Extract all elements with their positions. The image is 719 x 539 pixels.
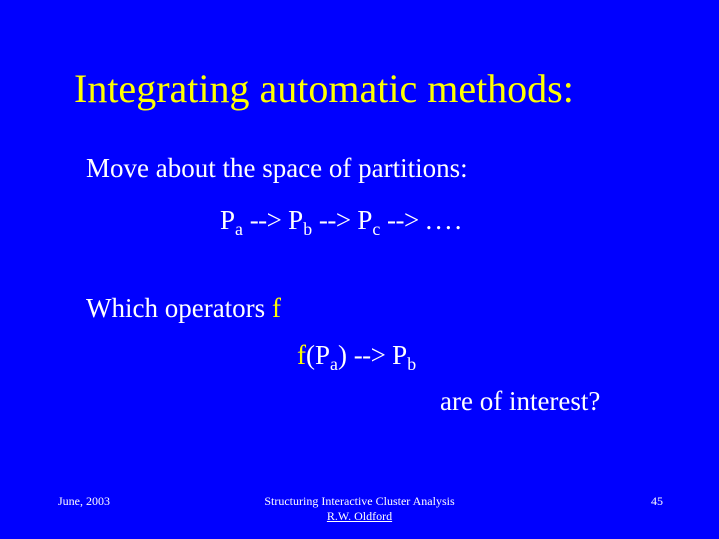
partition-p2-subscript: b xyxy=(303,219,312,239)
partition-p2: P xyxy=(288,205,303,235)
formula-close-paren: ) xyxy=(338,340,347,370)
operator-symbol-f: f xyxy=(272,293,281,323)
partition-p1-subscript: a xyxy=(235,219,243,239)
which-operators-text: Which operators xyxy=(86,293,265,323)
formula-argument-subscript: a xyxy=(330,354,338,374)
arrow-3: --> xyxy=(387,205,419,235)
formula-open-paren: ( xyxy=(306,340,315,370)
footer-center: Structuring Interactive Cluster Analysis… xyxy=(0,494,719,524)
formula-argument-p: P xyxy=(315,340,330,370)
partition-chain-formula: Pa --> Pb --> Pc --> .... xyxy=(220,204,464,236)
operator-mapping-formula: f(Pa) --> Pb xyxy=(297,339,416,371)
slide-title: Integrating automatic methods: xyxy=(74,66,574,112)
formula-arrow: --> xyxy=(354,340,386,370)
bullet-which-operators: Which operators f xyxy=(86,292,281,324)
arrow-1: --> xyxy=(250,205,282,235)
footer-page-number: 45 xyxy=(651,494,663,509)
footer-subject: Structuring Interactive Cluster Analysis xyxy=(264,494,454,508)
formula-operator-f: f xyxy=(297,340,306,370)
chain-ellipsis: .... xyxy=(425,205,464,235)
bullet-are-of-interest: are of interest? xyxy=(440,385,600,417)
slide: Integrating automatic methods: Move abou… xyxy=(0,0,719,539)
arrow-2: --> xyxy=(319,205,351,235)
formula-result-p: P xyxy=(392,340,407,370)
partition-p3-subscript: c xyxy=(372,219,380,239)
footer-author-line: R.W. Oldford xyxy=(0,509,719,524)
footer-author-link[interactable]: R.W. Oldford xyxy=(327,509,392,523)
partition-p1: P xyxy=(220,205,235,235)
formula-result-subscript: b xyxy=(407,354,416,374)
partition-p3: P xyxy=(357,205,372,235)
bullet-move-about-space: Move about the space of partitions: xyxy=(86,152,468,184)
